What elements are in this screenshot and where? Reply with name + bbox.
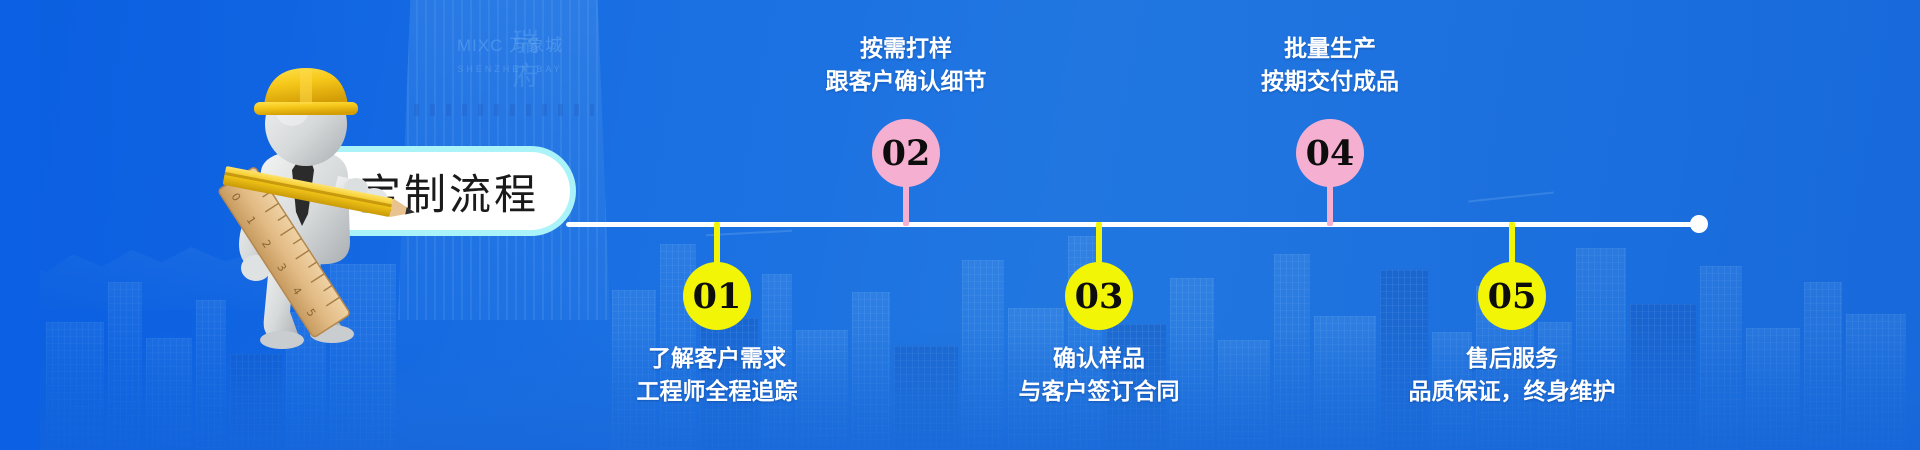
step-caption-01-line1: 了解客户需求 [517, 343, 917, 376]
step-caption-01: 了解客户需求 工程师全程追踪 [517, 343, 917, 408]
step-caption-05-line1: 售后服务 [1312, 343, 1712, 376]
step-badge-03[interactable]: 03 [1065, 262, 1133, 330]
custom-process-banner: MIXC 万象城 SHENZHEN BAY 瑞府 定制流程 [0, 0, 1920, 450]
step-caption-03: 确认样品 与客户签订合同 [899, 343, 1299, 408]
step-badge-01[interactable]: 01 [683, 262, 751, 330]
step-badge-02[interactable]: 02 [872, 119, 940, 187]
step-caption-05-line2: 品质保证，终身维护 [1312, 376, 1712, 409]
left-color-band [0, 0, 40, 450]
step-caption-03-line2: 与客户签订合同 [899, 376, 1299, 409]
step-caption-04-line1: 批量生产 [1130, 33, 1530, 66]
step-caption-03-line1: 确认样品 [899, 343, 1299, 376]
step-badge-04[interactable]: 04 [1296, 119, 1364, 187]
step-caption-02-line2: 跟客户确认细节 [706, 66, 1106, 99]
step-caption-01-line2: 工程师全程追踪 [517, 376, 917, 409]
timeline-rail [566, 222, 1702, 227]
step-caption-02: 按需打样 跟客户确认细节 [706, 33, 1106, 98]
step-caption-04: 批量生产 按期交付成品 [1130, 33, 1530, 98]
step-badge-05[interactable]: 05 [1478, 262, 1546, 330]
step-caption-05: 售后服务 品质保证，终身维护 [1312, 343, 1712, 408]
engineer-mascot: 0 1 2 3 4 5 [178, 66, 418, 356]
timeline-end-dot [1690, 215, 1708, 233]
step-caption-02-line1: 按需打样 [706, 33, 1106, 66]
hard-hat-icon [254, 68, 358, 115]
step-caption-04-line2: 按期交付成品 [1130, 66, 1530, 99]
